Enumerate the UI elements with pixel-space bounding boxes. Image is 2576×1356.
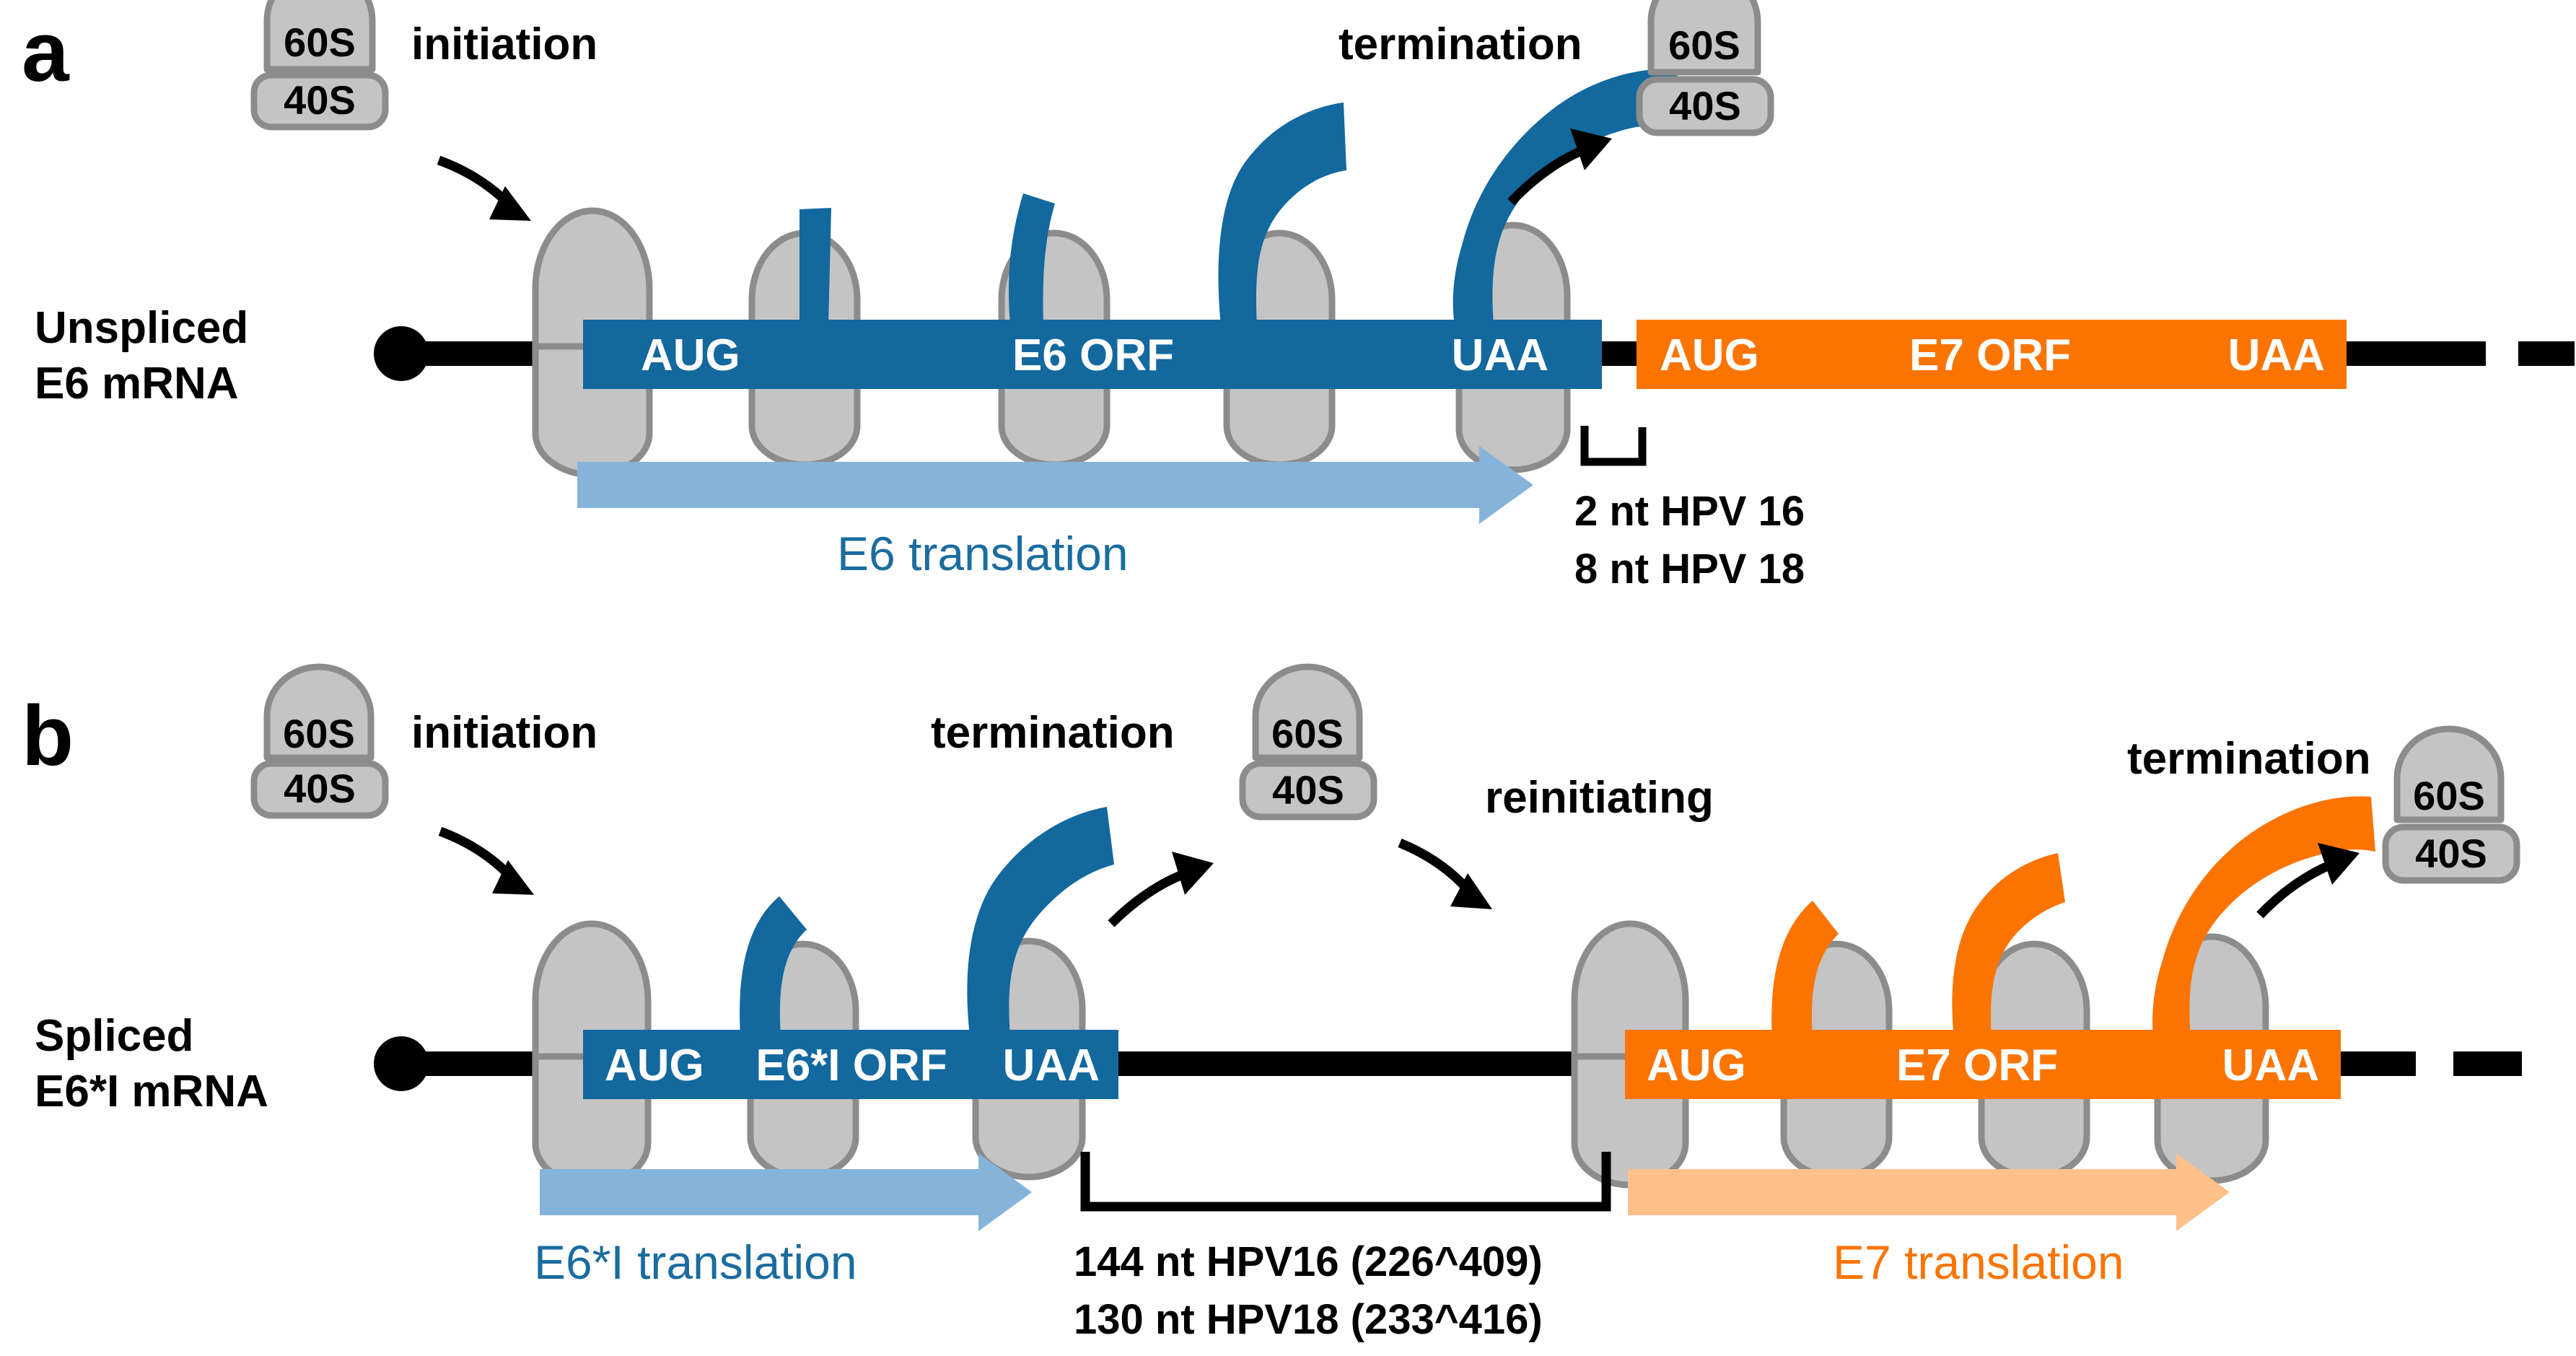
panel-b-released-60s-label: 60S bbox=[1271, 711, 1344, 756]
panel-b-scanning-40s-label: 40S bbox=[1272, 767, 1344, 813]
panel-a-initiation-arrow-icon bbox=[439, 160, 531, 221]
panel-a-released-60s-label: 60S bbox=[1668, 22, 1740, 68]
panel-b-e6i-orf-name: E6*I ORF bbox=[755, 1041, 947, 1090]
panel-a-e7-orf-name: E7 ORF bbox=[1909, 331, 2071, 380]
figure-canvas: a 60S 40S initiation Unspliced E6 mRNA bbox=[0, 0, 2576, 1356]
panel-b-termination-arrow-1-icon bbox=[1111, 852, 1214, 924]
panel-a-spacer-bracket bbox=[1585, 426, 1642, 462]
panel-b-40s-label: 40S bbox=[284, 766, 356, 811]
panel-b-letter: b bbox=[22, 688, 74, 784]
panel-a-40s-label: 40S bbox=[284, 77, 356, 123]
nascent-peptide bbox=[799, 208, 831, 326]
panel-b-intercistronic-note-line1: 144 nt HPV16 (226^409) bbox=[1074, 1238, 1543, 1285]
panel-b-released-40s-2: 40S bbox=[2386, 827, 2517, 880]
panel-a-free-60s: 60S bbox=[267, 0, 372, 69]
panel-b-released-60s-2-label: 60S bbox=[2413, 773, 2485, 818]
panel-a-e6-translation-label: E6 translation bbox=[837, 527, 1129, 580]
panel-b-initiation-arrow-icon bbox=[440, 831, 534, 895]
panel-a-released-40s-label: 40S bbox=[1669, 83, 1741, 128]
panel-a-initiation-label: initiation bbox=[411, 19, 597, 69]
panel-b-e6i-start-codon: AUG bbox=[605, 1041, 704, 1090]
panel-b-e6i-translation-label: E6*I translation bbox=[534, 1235, 857, 1289]
panel-a-free-40s: 40S bbox=[254, 75, 385, 127]
panel-a-e7-orf-bar: AUG E7 ORF UAA bbox=[1637, 320, 2347, 389]
panel-b-released-60s-2: 60S bbox=[2397, 729, 2501, 820]
panel-a: a 60S 40S initiation Unspliced E6 mRNA bbox=[22, 0, 2575, 592]
panel-a-mrna-label-line2: E6 mRNA bbox=[35, 359, 239, 408]
panel-b-free-40s: 40S bbox=[254, 764, 385, 815]
panel-a-e6-stop-codon: UAA bbox=[1452, 331, 1548, 380]
panel-b-e7-translation-label: E7 translation bbox=[1833, 1235, 2124, 1289]
panel-b-e6i-orf-bar: AUG E6*I ORF UAA bbox=[583, 1030, 1118, 1099]
panel-b-e7-translation-arrow bbox=[1628, 1153, 2230, 1231]
panel-a-e7-start-codon: AUG bbox=[1660, 331, 1759, 380]
panel-b-mrna-label-line1: Spliced bbox=[35, 1011, 194, 1061]
panel-b-released-40s-2-label: 40S bbox=[2415, 831, 2487, 876]
panel-a-e6-orf-bar: AUG E6 ORF UAA bbox=[583, 320, 1602, 389]
panel-b-termination-label-2: termination bbox=[2127, 734, 2371, 784]
panel-b-reinitiating-arrow-icon bbox=[1400, 843, 1492, 909]
panel-b-free-60s: 60S bbox=[267, 667, 371, 758]
panel-b-60s-label: 60S bbox=[283, 711, 355, 756]
panel-b-mrna-label-line2: E6*I mRNA bbox=[35, 1067, 268, 1116]
panel-b: b 60S 40S initiation Spliced E6*I mRNA bbox=[22, 667, 2522, 1343]
diagram-svg: a 60S 40S initiation Unspliced E6 mRNA bbox=[0, 0, 2576, 1356]
panel-b-e7-start-codon: AUG bbox=[1647, 1041, 1746, 1090]
panel-a-e6-start-codon: AUG bbox=[641, 331, 740, 380]
panel-a-termination-label: termination bbox=[1339, 19, 1582, 69]
panel-a-released-40s: 40S bbox=[1639, 79, 1771, 133]
panel-a-letter: a bbox=[22, 4, 70, 100]
panel-b-e7-orf-bar: AUG E7 ORF UAA bbox=[1625, 1030, 2341, 1099]
panel-a-e6-orf-name: E6 ORF bbox=[1012, 331, 1174, 380]
panel-a-released-60s: 60S bbox=[1651, 0, 1758, 72]
panel-a-mrna-label-line1: Unspliced bbox=[35, 303, 248, 353]
panel-b-intercistronic-bracket bbox=[1085, 1152, 1606, 1207]
panel-b-termination-label-1: termination bbox=[931, 708, 1175, 758]
panel-b-reinitiating-label: reinitiating bbox=[1485, 773, 1714, 823]
panel-a-60s-label: 60S bbox=[284, 19, 356, 65]
panel-b-scanning-40s: 40S bbox=[1243, 764, 1374, 817]
panel-b-initiation-label: initiation bbox=[411, 708, 597, 758]
panel-a-spacer-note-line2: 8 nt HPV 18 bbox=[1574, 546, 1805, 592]
panel-a-spacer-note-line1: 2 nt HPV 16 bbox=[1574, 488, 1805, 535]
panel-b-e7-orf-name: E7 ORF bbox=[1896, 1041, 2058, 1090]
panel-b-released-60s: 60S bbox=[1256, 667, 1359, 758]
panel-b-e7-stop-codon: UAA bbox=[2222, 1041, 2319, 1090]
panel-b-intercistronic-note-line2: 130 nt HPV18 (233^416) bbox=[1074, 1296, 1543, 1343]
panel-a-e7-stop-codon: UAA bbox=[2228, 331, 2325, 380]
panel-b-e6i-stop-codon: UAA bbox=[1003, 1041, 1100, 1090]
